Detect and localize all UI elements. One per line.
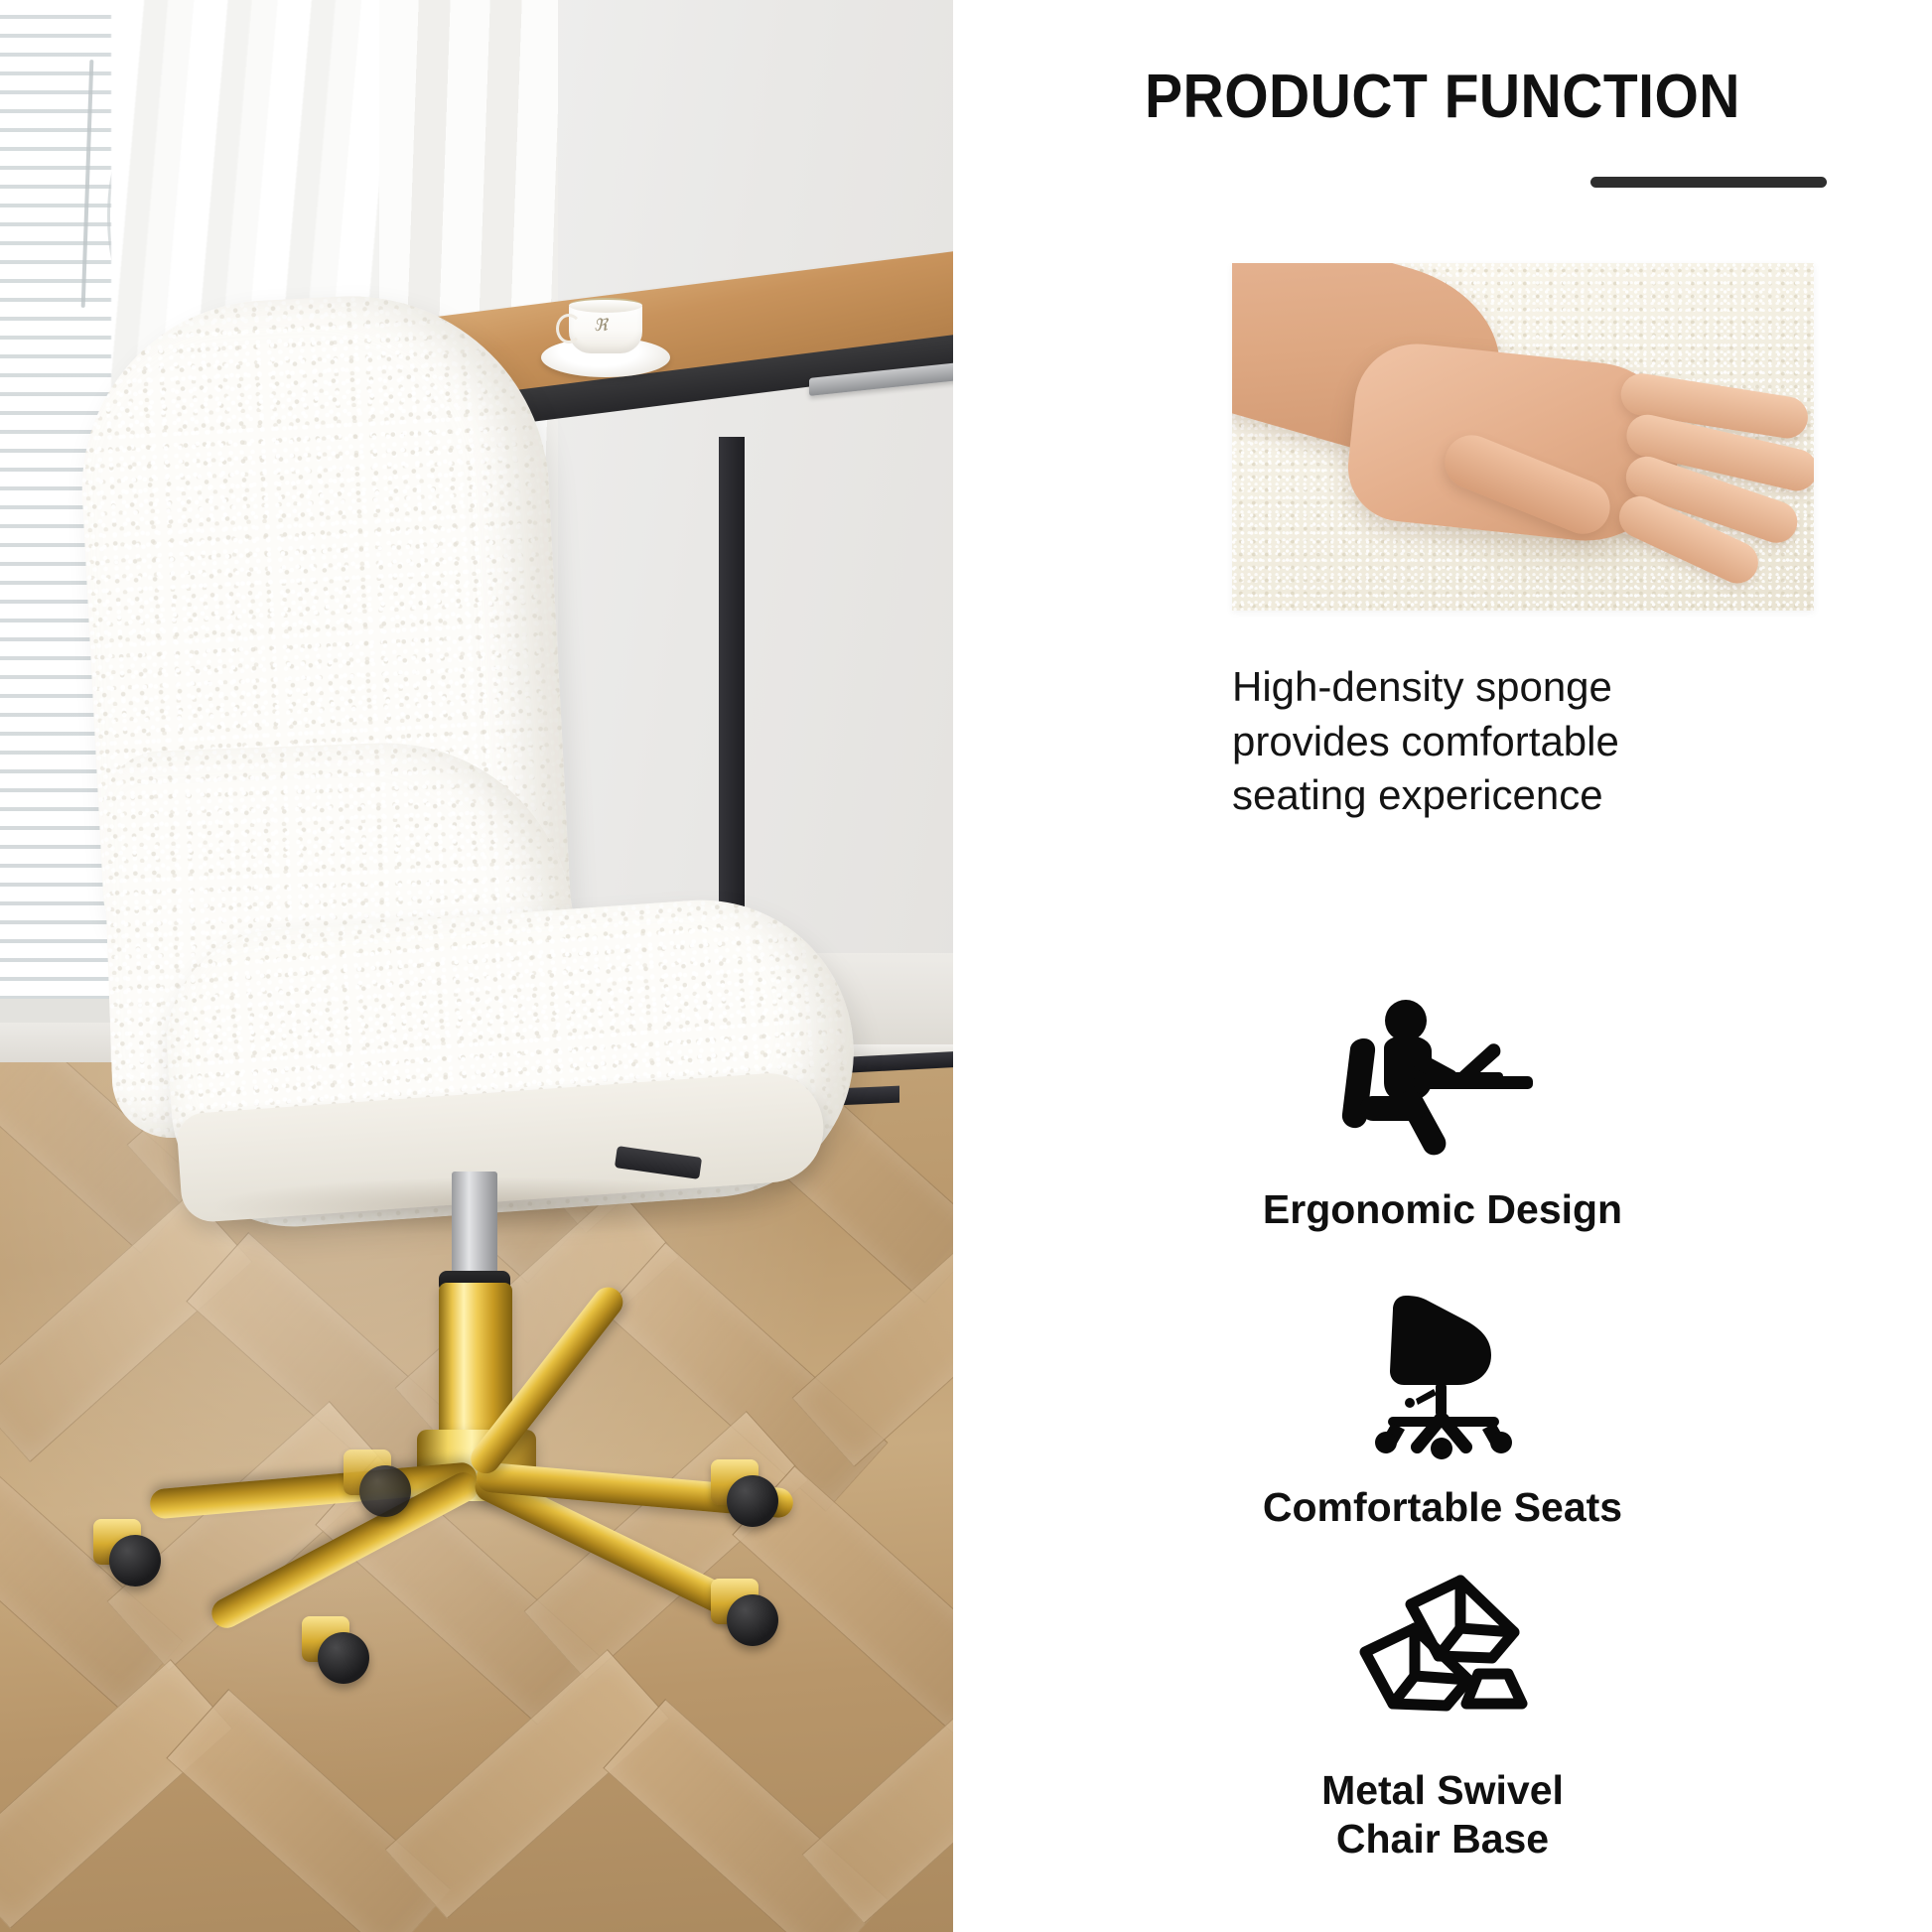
caster-left [87, 1519, 161, 1592]
sponge-caption-line-2: provides comfortable [1232, 715, 1848, 769]
office-chair [60, 278, 884, 1569]
caster-wheel [727, 1594, 778, 1646]
sponge-demo-image [1232, 263, 1814, 611]
feature-metal-swivel-base: Metal Swivel Chair Base [953, 1574, 1932, 1863]
chair-seat-shadow [208, 1176, 804, 1236]
feature-label: Metal Swivel Chair Base [953, 1766, 1932, 1863]
caster-front-left [296, 1616, 369, 1690]
caster-wheel [318, 1632, 369, 1684]
product-photo: ℜ [0, 0, 953, 1932]
feature-ergonomic-design: Ergonomic Design [953, 993, 1932, 1234]
office-chair-icon [953, 1291, 1932, 1457]
feature-comfortable-seats: Comfortable Seats [953, 1291, 1932, 1532]
feature-label-line-1: Metal Swivel [953, 1766, 1932, 1815]
caster-wheel [359, 1465, 411, 1517]
caster-wheel [109, 1535, 161, 1587]
feature-label-line-2: Chair Base [953, 1815, 1932, 1863]
caster-back [338, 1449, 411, 1523]
blind-cord [81, 60, 94, 308]
sponge-caption-line-1: High-density sponge [1232, 660, 1848, 715]
title-underline [1590, 177, 1827, 188]
feature-label: Comfortable Seats [953, 1483, 1932, 1532]
caster-right [705, 1459, 778, 1533]
feature-label: Ergonomic Design [953, 1185, 1932, 1234]
info-panel: PRODUCT FUNCTION High-density sponge pro… [953, 0, 1932, 1932]
caster-wheel [727, 1475, 778, 1527]
metal-bars-icon [953, 1574, 1932, 1740]
sponge-caption-line-3: seating expericence [1232, 768, 1848, 823]
person-at-desk-icon [953, 993, 1932, 1160]
page-title: PRODUCT FUNCTION [992, 62, 1892, 132]
caster-front-right [705, 1579, 778, 1652]
sponge-caption: High-density sponge provides comfortable… [1232, 660, 1848, 823]
product-infographic: ℜ [0, 0, 1932, 1932]
